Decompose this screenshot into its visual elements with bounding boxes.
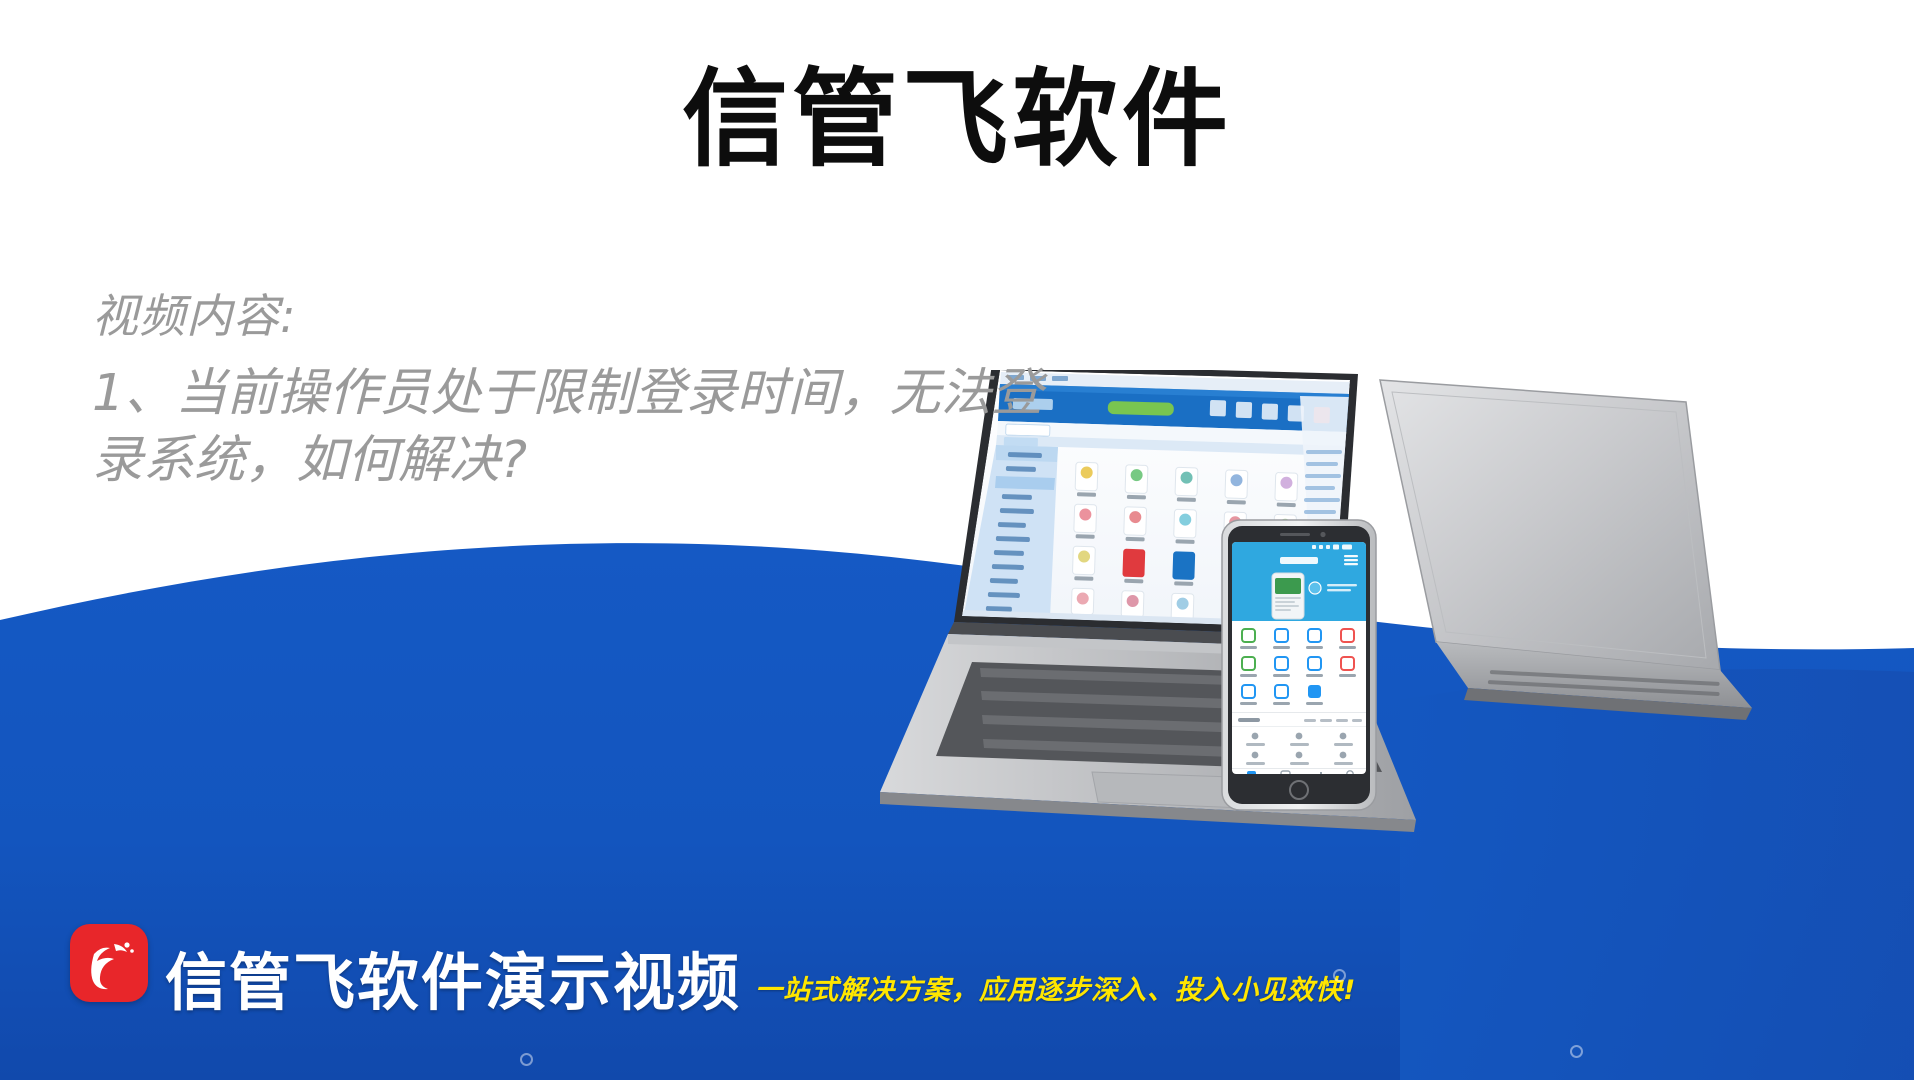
decorative-dot	[520, 1053, 533, 1066]
video-content-item-line2: 录系统，如何解决?	[92, 427, 1102, 494]
footer-brand-text: 信管飞软件演示视频	[165, 952, 741, 1014]
footer-bar: 信管飞软件演示视频 一站式解决方案，应用逐步深入、投入小见效快!	[0, 904, 1914, 1080]
hamburger-icon	[1344, 555, 1358, 565]
decorative-dot	[1570, 1045, 1583, 1058]
presentation-slide: 信管飞软件 视频内容: 1、当前操作员处于限制登录时间，无法登 录系统，如何解决…	[0, 0, 1914, 1080]
smartphone-front	[1222, 520, 1376, 810]
video-content-block: 视频内容: 1、当前操作员处于限制登录时间，无法登 录系统，如何解决?	[92, 288, 1102, 494]
slide-title: 信管飞软件	[0, 62, 1914, 179]
video-content-item-line1: 1、当前操作员处于限制登录时间，无法登	[92, 360, 1102, 427]
xinguanfei-logo-icon	[70, 924, 148, 1002]
video-content-label: 视频内容:	[92, 288, 1102, 346]
laptop-back-closed	[1380, 380, 1752, 720]
footer-tagline: 一站式解决方案，应用逐步深入、投入小见效快!	[755, 977, 1356, 1004]
decorative-dot	[1333, 969, 1346, 982]
